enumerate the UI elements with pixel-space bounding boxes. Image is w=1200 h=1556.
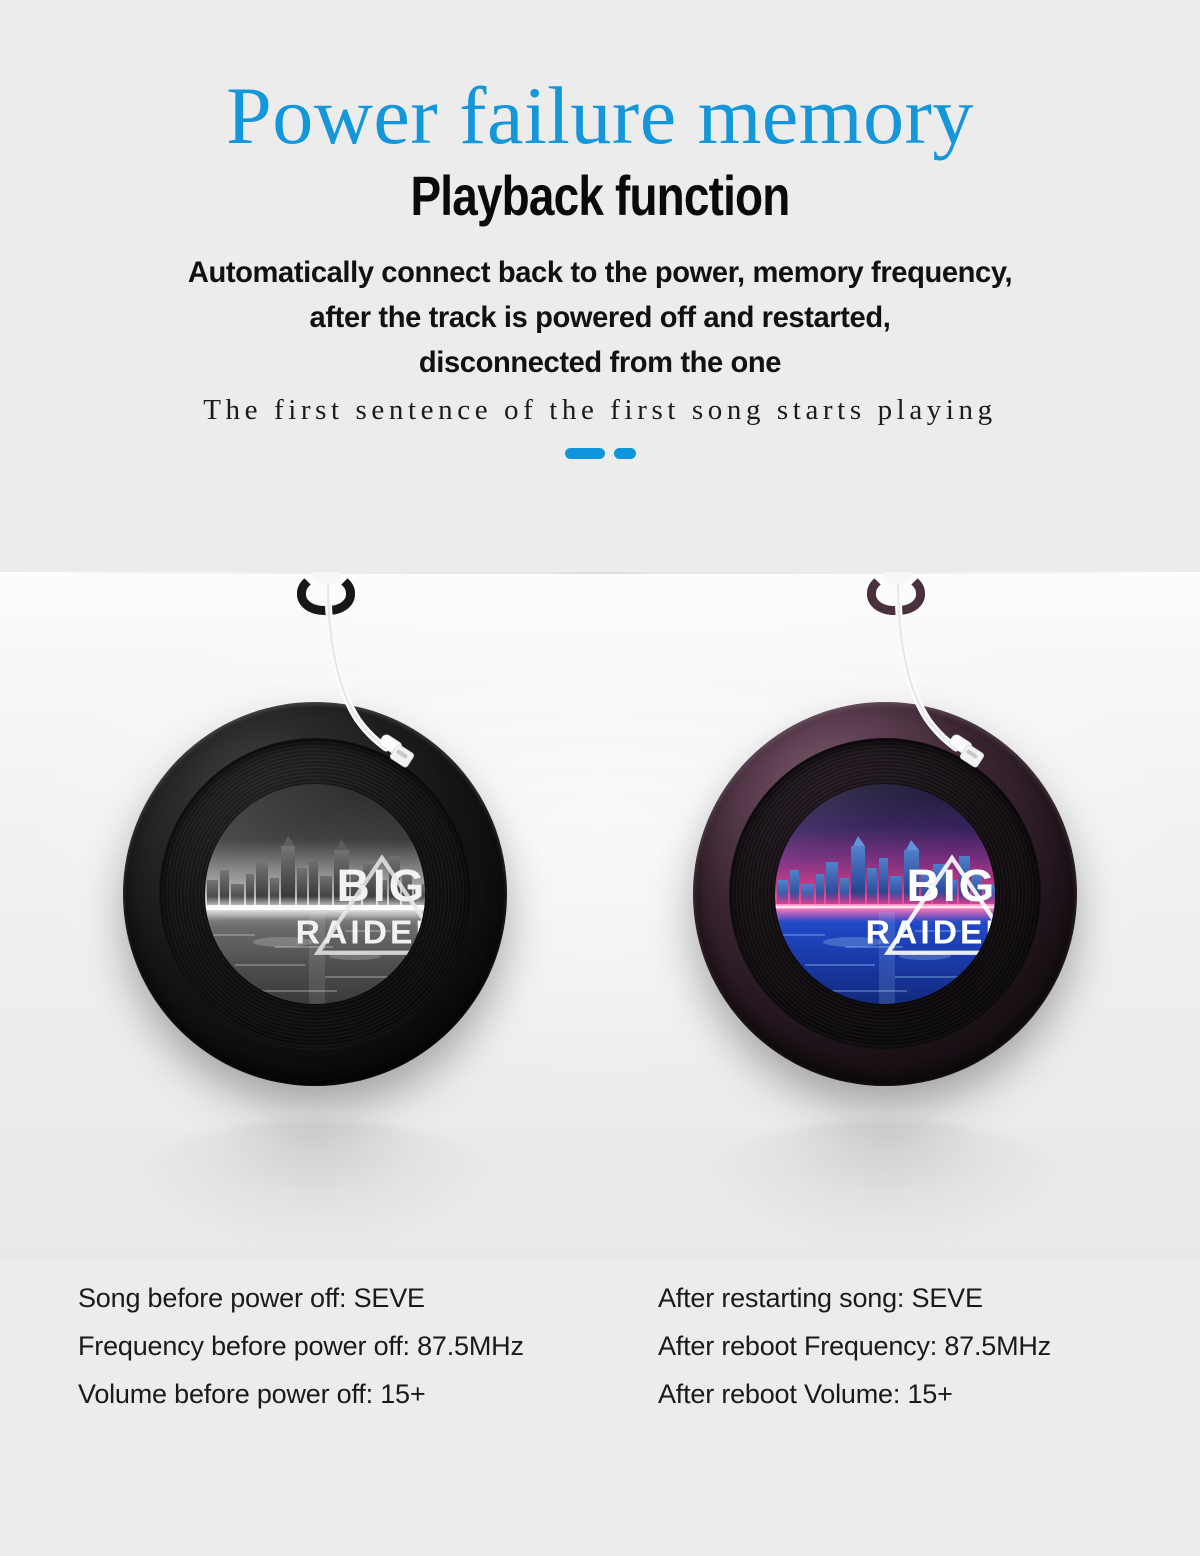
product-photo-stage: BIG RAIDERS SHOOTING STARS — [0, 572, 1200, 1262]
header-section: Power failure memory Playback function A… — [0, 0, 1200, 572]
spec-song-after: After restarting song: SEVE — [658, 1274, 1051, 1322]
divider-pill-short — [614, 448, 636, 459]
tagline-text: The first sentence of the first song sta… — [0, 392, 1200, 428]
spec-frequency-before: Frequency before power off: 87.5MHz — [78, 1322, 524, 1370]
page-subtitle: Playback function — [108, 165, 1092, 227]
product-left: BIG RAIDERS SHOOTING STARS — [75, 572, 555, 1262]
spec-volume-after: After reboot Volume: 15+ — [658, 1370, 1051, 1418]
display-screen-right: BIG RAIDERS SHOOTING STARS — [775, 784, 995, 1004]
display-screen-left: BIG RAIDERS SHOOTING STARS — [205, 784, 425, 1004]
divider-pill-long — [565, 448, 605, 459]
decorative-divider — [0, 443, 1200, 463]
specs-after-reboot: After restarting song: SEVE After reboot… — [658, 1274, 1051, 1418]
description-block: Automatically connect back to the power,… — [60, 250, 1140, 385]
spec-volume-before: Volume before power off: 15+ — [78, 1370, 524, 1418]
charging-cable-left — [320, 580, 402, 808]
description-line-1: Automatically connect back to the power,… — [76, 250, 1124, 295]
product-shadow-right — [705, 1120, 1065, 1240]
product-right: BIG RAIDERS SHOOTING STARS — [645, 572, 1125, 1262]
specs-before-power-off: Song before power off: SEVE Frequency be… — [78, 1274, 524, 1418]
specs-section: Song before power off: SEVE Frequency be… — [0, 1262, 1200, 1556]
speaker-body-left: BIG RAIDERS SHOOTING STARS — [123, 702, 507, 1086]
page-title: Power failure memory — [0, 72, 1200, 160]
product-feature-page: Power failure memory Playback function A… — [0, 0, 1200, 1556]
product-shadow-left — [135, 1120, 495, 1240]
description-line-3: disconnected from the one — [76, 340, 1124, 385]
speaker-body-right: BIG RAIDERS SHOOTING STARS — [693, 702, 1077, 1086]
description-line-2: after the track is powered off and resta… — [76, 295, 1124, 340]
spec-song-before: Song before power off: SEVE — [78, 1274, 524, 1322]
spec-frequency-after: After reboot Frequency: 87.5MHz — [658, 1322, 1051, 1370]
charging-cable-right — [890, 580, 972, 808]
